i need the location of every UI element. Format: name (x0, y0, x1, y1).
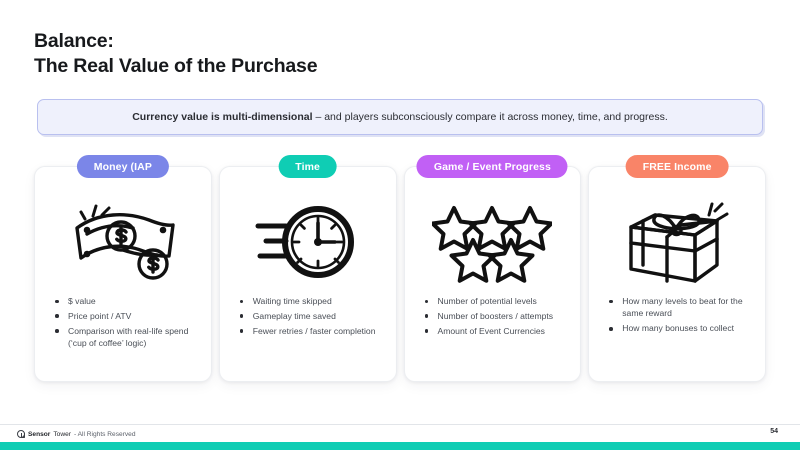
sensor-tower-logo-icon (17, 430, 25, 438)
card-free-income: FREE Income (588, 166, 766, 382)
list-item: Fewer retries / faster completion (240, 325, 382, 337)
list-item: $ value (55, 295, 197, 307)
list-item: How many levels to beat for the same rew… (609, 295, 751, 320)
value-dimension-cards: Money (IAP (34, 166, 766, 382)
card-money-pill: Money (IAP (77, 155, 169, 178)
card-money-bullets: $ value Price point / ATV Comparison wit… (35, 295, 211, 350)
card-progress: Game / Event Progress Number of potentia… (404, 166, 582, 382)
banner-bold-text: Currency value is multi-dimensional (132, 111, 312, 123)
footer: SensorTower - All Rights Reserved (0, 425, 800, 443)
list-item: Amount of Event Currencies (425, 325, 567, 337)
list-item: How many bonuses to collect (609, 322, 751, 334)
list-item: Number of potential levels (425, 295, 567, 307)
footer-accent-bar (0, 442, 800, 450)
list-item: Gameplay time saved (240, 310, 382, 322)
card-free-income-bullets: How many levels to beat for the same rew… (589, 295, 765, 335)
card-progress-pill: Game / Event Progress (417, 155, 568, 178)
key-message-banner: Currency value is multi-dimensional – an… (37, 99, 763, 135)
card-time-bullets: Waiting time skipped Gameplay time saved… (220, 295, 396, 337)
page-number: 54 (770, 428, 778, 435)
page-title-line-2: The Real Value of the Purchase (34, 54, 634, 79)
list-item: Waiting time skipped (240, 295, 382, 307)
banknote-dollar-icon (35, 191, 211, 295)
list-item: Number of boosters / attempts (425, 310, 567, 322)
footer-brand: SensorTower - All Rights Reserved (17, 430, 136, 438)
list-item: Price point / ATV (55, 310, 197, 322)
fast-clock-icon (220, 191, 396, 295)
list-item: Comparison with real-life spend (‘cup of… (55, 325, 197, 350)
five-stars-icon (405, 191, 581, 295)
footer-rights-text: - All Rights Reserved (74, 431, 136, 438)
footer-brand-rest: Tower (53, 431, 71, 438)
page-title: Balance: The Real Value of the Purchase (34, 29, 634, 79)
banner-text: Currency value is multi-dimensional – an… (132, 111, 668, 123)
footer-brand-strong: Sensor (28, 431, 50, 438)
slide-root: Balance: The Real Value of the Purchase … (0, 0, 800, 450)
card-time: Time (219, 166, 397, 382)
card-money: Money (IAP (34, 166, 212, 382)
banner-rest-text: – and players subconsciously compare it … (313, 111, 668, 123)
card-progress-bullets: Number of potential levels Number of boo… (405, 295, 581, 337)
card-free-income-pill: FREE Income (626, 155, 729, 178)
page-title-line-1: Balance: (34, 29, 634, 54)
gift-box-icon (589, 191, 765, 295)
card-time-pill: Time (278, 155, 337, 178)
